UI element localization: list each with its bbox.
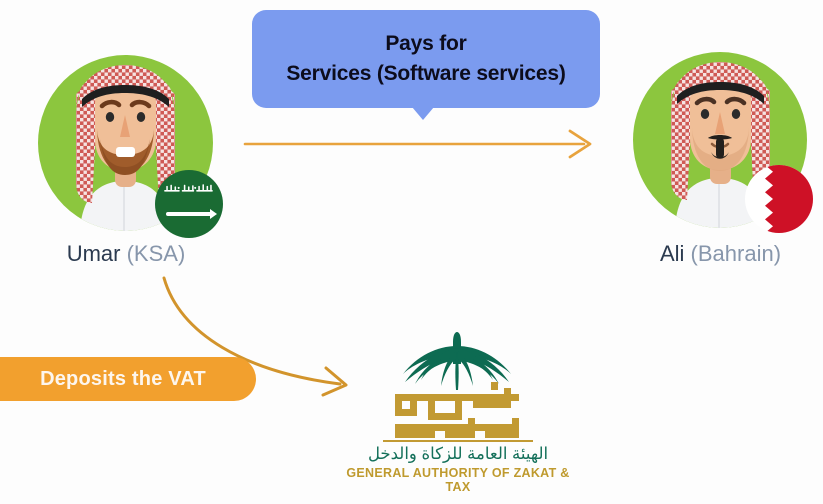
zatca-logo-mark — [333, 330, 583, 442]
vat-pill-label: Deposits the VAT — [40, 368, 206, 391]
bubble-line-1: Pays for — [385, 29, 466, 59]
actor-name: Ali — [660, 241, 684, 266]
palm-tree-icon — [403, 332, 511, 390]
bubble-tail — [412, 107, 434, 120]
zakat-calligraphy — [383, 382, 533, 442]
deposits-the-vat-pill: Deposits the VAT — [0, 357, 256, 401]
actor-country: (Bahrain) — [691, 241, 781, 266]
zatca-arabic-name: الهيئة العامة للزكاة والدخل — [333, 444, 583, 464]
diagram-canvas: Pays for Services (Software services) — [0, 0, 823, 504]
saudi-arabia-flag-badge — [155, 170, 223, 238]
zatca-logo: الهيئة العامة للزكاة والدخل GENERAL AUTH… — [333, 330, 583, 494]
bahrain-flag-badge — [745, 165, 813, 233]
bahrain-flag-shape — [745, 165, 813, 233]
actor-umar: Umar (KSA) — [38, 55, 213, 231]
bubble-line-2: Services (Software services) — [286, 59, 565, 89]
sword-emblem — [166, 212, 212, 216]
shahada-script — [163, 184, 215, 198]
actor-ali: Ali (Bahrain) — [633, 52, 807, 228]
actor-name: Umar — [67, 241, 121, 266]
avatar-umar-label: Umar (KSA) — [16, 241, 236, 267]
zatca-english-name: GENERAL AUTHORITY OF ZAKAT & TAX — [333, 466, 583, 494]
avatar-ali-label: Ali (Bahrain) — [613, 241, 823, 267]
actor-country: (KSA) — [127, 241, 186, 266]
pays-for-services-bubble: Pays for Services (Software services) — [252, 10, 600, 108]
pays-for-services-arrow — [240, 126, 600, 162]
